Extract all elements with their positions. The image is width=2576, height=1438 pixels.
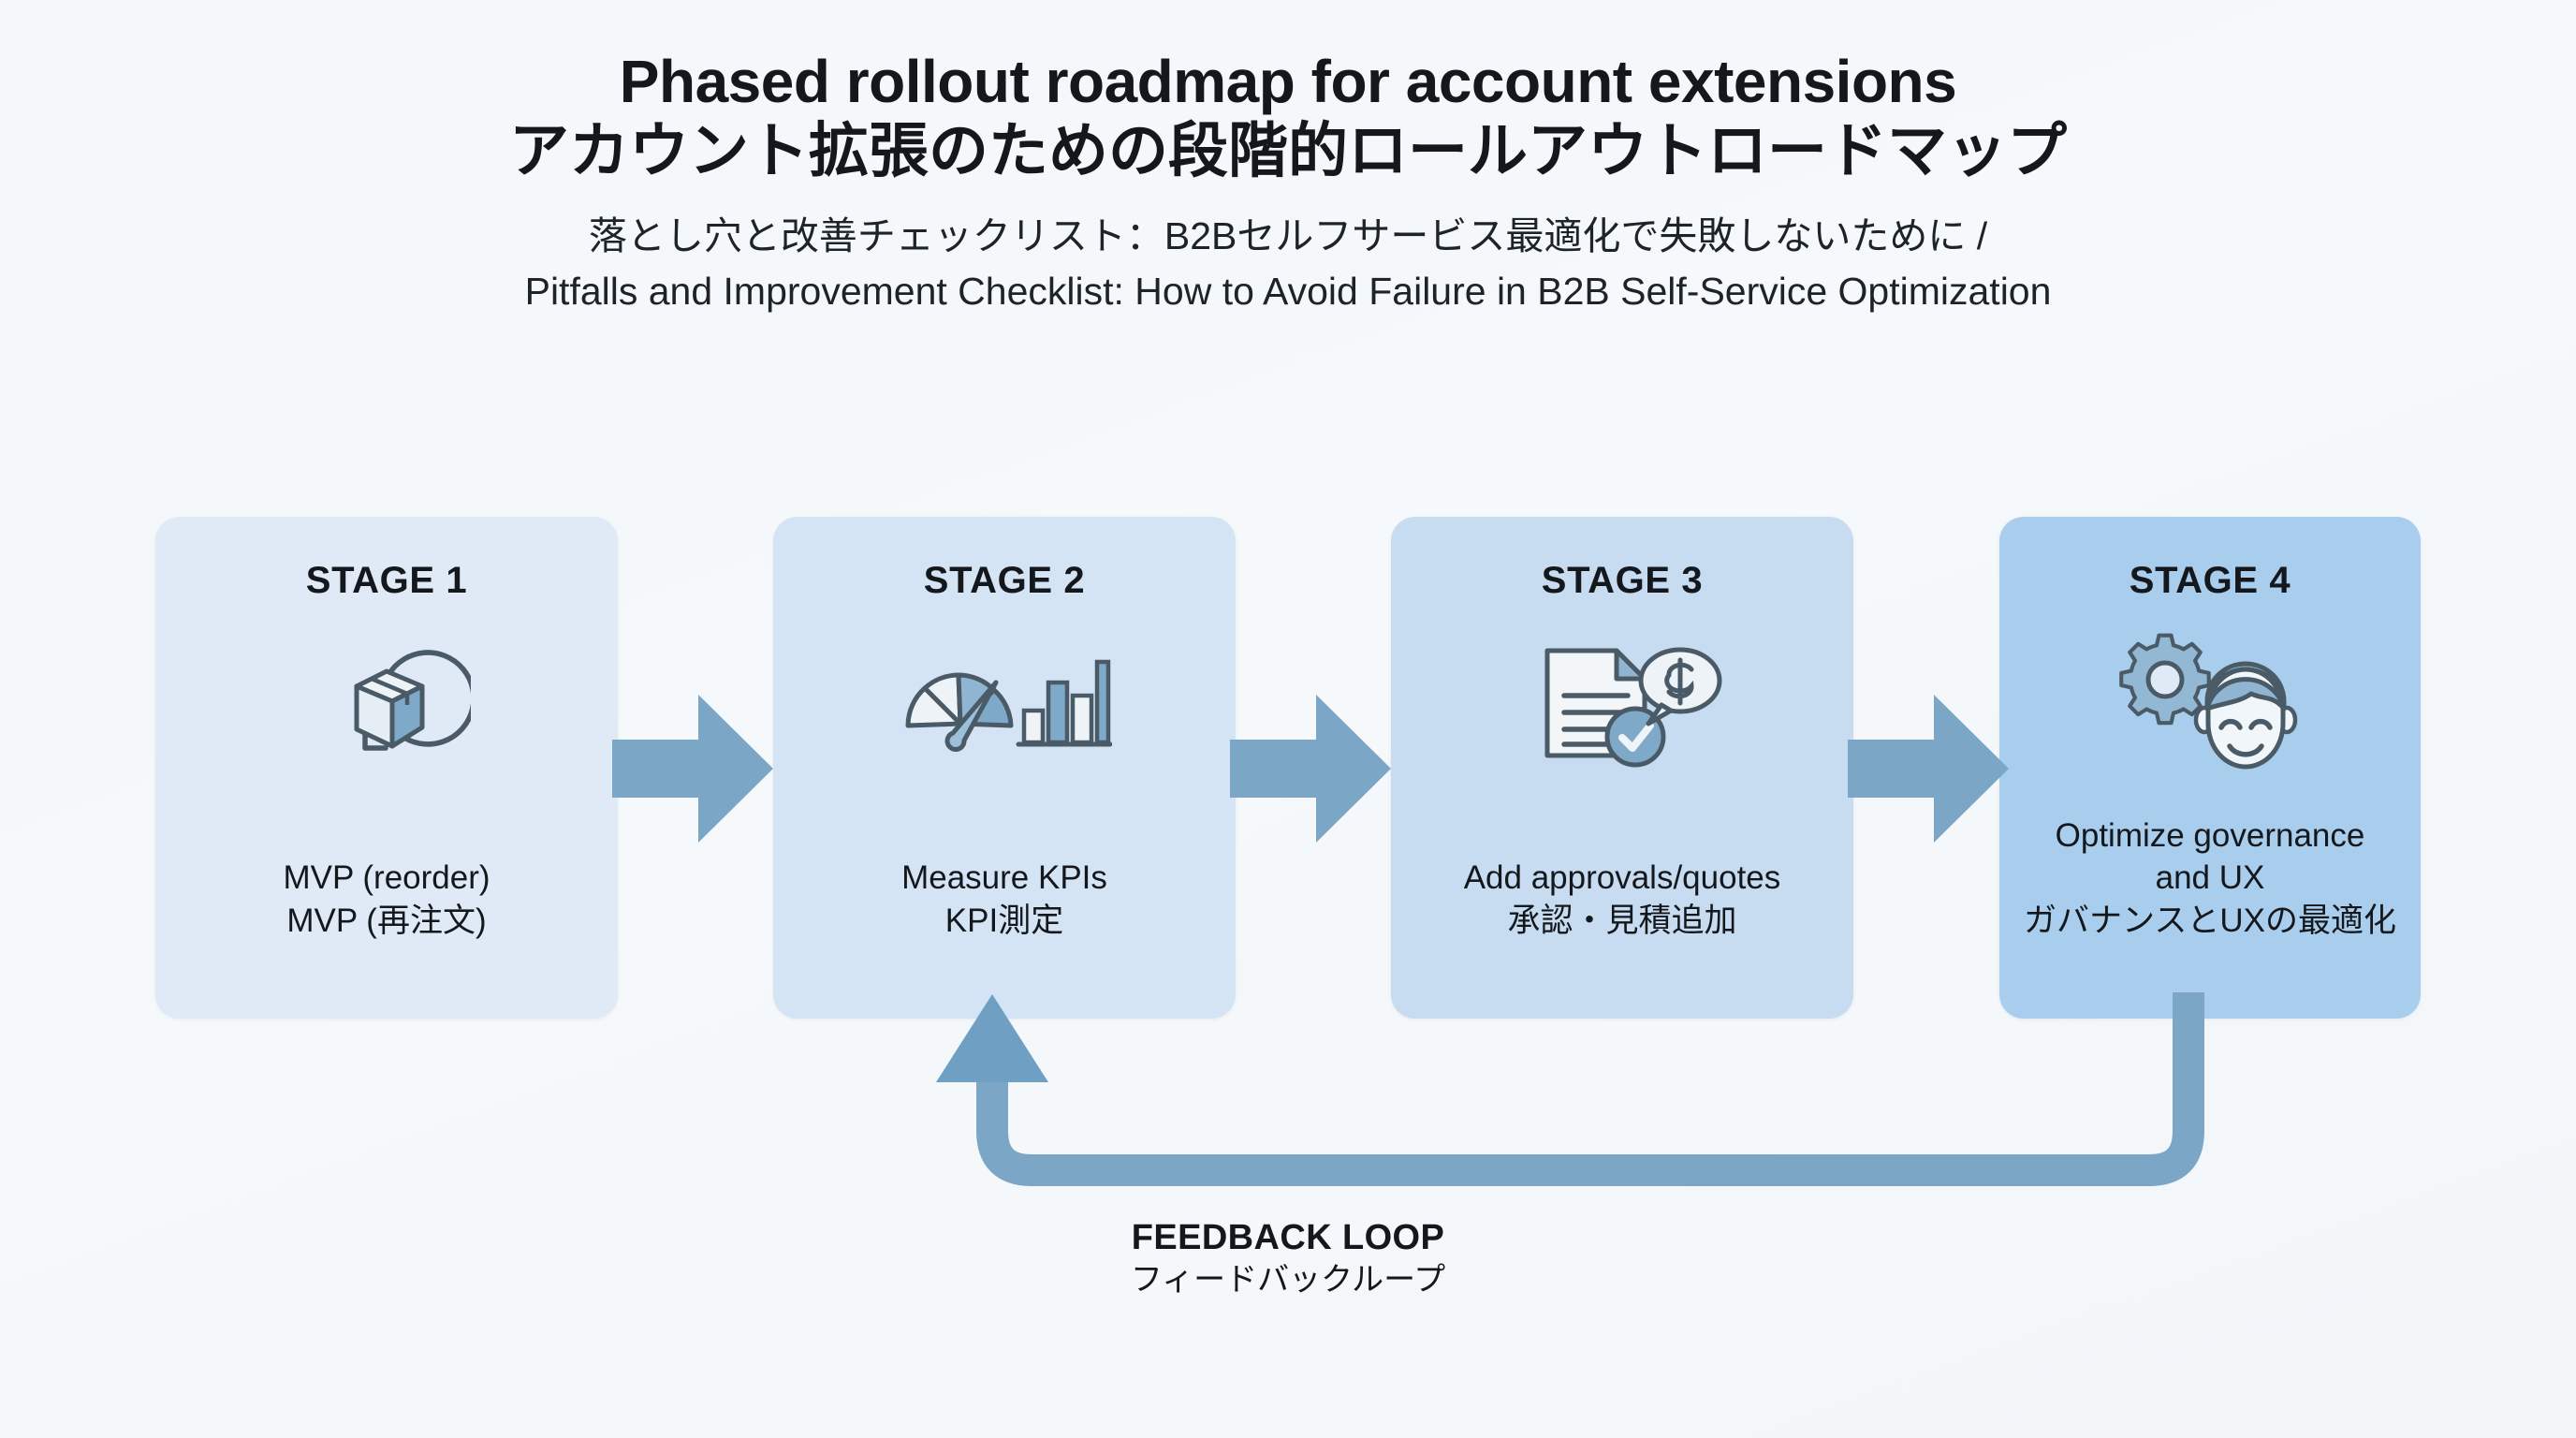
feedback-loop-caption: FEEDBACK LOOP フィードバックループ [0,1217,2576,1299]
stage-1-label-en: MVP (reorder) [283,859,490,896]
loop-back-arrow-icon [0,992,2576,1236]
stage-card-4[interactable]: STAGE 4 [1999,517,2421,1019]
stage-2-title: STAGE 2 [924,560,1085,602]
stage-card-3[interactable]: STAGE 3 Add approvals [1391,517,1853,1019]
stage-2-label-ja: KPI測定 [786,900,1222,943]
page-title-en: Phased rollout roadmap for account exten… [0,49,2576,116]
stage-card-2[interactable]: STAGE 2 Me [773,517,1236,1019]
page-title-ja: アカウント拡張のための段階的ロールアウトロードマップ [0,118,2576,185]
stage-card-1[interactable]: STAGE 1 MVP (reorder) [155,517,618,1019]
subtitle-line-1: 落とし穴と改善チェックリスト：B2Bセルフサービス最適化で失敗しないために / [0,209,2576,263]
header-block: Phased rollout roadmap for account exten… [0,49,2576,318]
stage-2-label: Measure KPIs KPI測定 [786,857,1222,942]
stage-1-label: MVP (reorder) MVP (再注文) [168,857,605,942]
feedback-label-ja: フィードバックループ [0,1261,2576,1299]
diagram-canvas: Phased rollout roadmap for account exten… [0,0,2576,1438]
stage-3-title: STAGE 3 [1542,560,1703,602]
right-arrow-icon-3-4 [1844,682,2012,856]
gear-smiling-face-icon [2107,628,2313,778]
package-reorder-icon [302,628,471,778]
stage-3-label-en: Add approvals/quotes [1464,859,1781,896]
stage-4-label: Optimize governance and UX ガバナンスとUXの最適化 [2012,814,2408,943]
subtitle-line-2: Pitfalls and Improvement Checklist: How … [0,264,2576,318]
stage-1-title: STAGE 1 [306,560,467,602]
stage-4-label-ja: ガバナンスとUXの最適化 [2012,900,2408,943]
right-arrow-icon-2-3 [1226,682,1395,856]
stage-4-title: STAGE 4 [2130,560,2291,602]
gauge-barchart-icon [897,628,1112,778]
stage-3-label-ja: 承認・見積追加 [1404,900,1840,943]
stage-3-label: Add approvals/quotes 承認・見積追加 [1404,857,1840,942]
right-arrow-icon-1-2 [608,682,777,856]
stage-2-label-en: Measure KPIs [901,859,1107,896]
stage-4-label-en-line2: and UX [2012,857,2408,900]
page-subtitle: 落とし穴と改善チェックリスト：B2Bセルフサービス最適化で失敗しないために / … [0,209,2576,317]
stage-1-label-ja: MVP (再注文) [168,900,605,943]
document-check-quote-icon [1519,628,1725,778]
stage-4-label-en-line1: Optimize governance [2056,817,2365,854]
feedback-label-en: FEEDBACK LOOP [0,1217,2576,1259]
